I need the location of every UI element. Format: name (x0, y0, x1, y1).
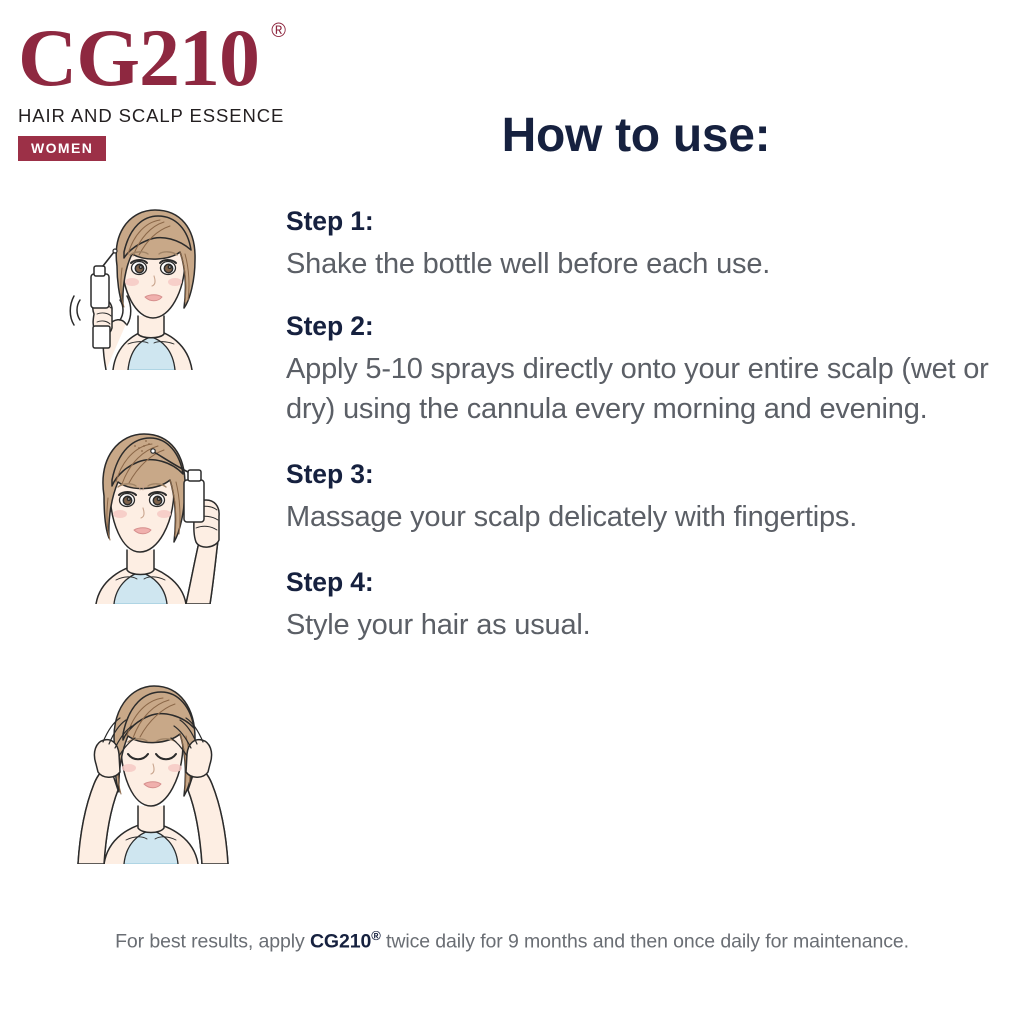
step-item-1: Step 1: Shake the bottle well before eac… (286, 206, 1002, 284)
step-item-4: Step 4: Style your hair as usual. (286, 567, 1002, 645)
step-body-4: Style your hair as usual. (286, 605, 1002, 645)
step-heading-2: Step 2: (286, 311, 1002, 342)
step-heading-4: Step 4: (286, 567, 1002, 598)
step-heading-3: Step 3: (286, 459, 1002, 490)
footer-lead: For best results, apply (115, 931, 310, 953)
brand-wordmark-text: CG210 (18, 12, 259, 103)
step-item-3: Step 3: Massage your scalp delicately wi… (286, 459, 1002, 537)
brand-logo: CG210 ® HAIR AND SCALP ESSENCE WOMEN (18, 18, 298, 161)
woman-massaging-scalp-illustration (56, 652, 252, 864)
footer-note: For best results, apply CG210® twice dai… (0, 928, 1024, 954)
step-body-2: Apply 5-10 sprays directly onto your ent… (286, 349, 998, 429)
footer-brand: CG210 (310, 931, 371, 953)
brand-tagline: HAIR AND SCALP ESSENCE (18, 105, 298, 127)
step-body-1: Shake the bottle well before each use. (286, 244, 1002, 284)
brand-wordmark: CG210 ® (18, 18, 285, 98)
step-item-2: Step 2: Apply 5-10 sprays directly onto … (286, 311, 1002, 429)
step-body-3: Massage your scalp delicately with finge… (286, 497, 906, 537)
footer-tail: twice daily for 9 months and then once d… (381, 931, 909, 953)
woman-shaking-bottle-illustration (58, 208, 244, 370)
registered-trademark-icon: ® (271, 22, 285, 42)
step-heading-1: Step 1: (286, 206, 1002, 237)
woman-spraying-scalp-illustration (58, 404, 244, 604)
page-title: How to use: (286, 108, 986, 163)
steps-list: Step 1: Shake the bottle well before eac… (286, 206, 1002, 645)
brand-badge-women: WOMEN (18, 136, 106, 161)
how-to-use-infographic: CG210 ® HAIR AND SCALP ESSENCE WOMEN How… (0, 0, 1024, 1024)
footer-registered-icon: ® (371, 928, 380, 943)
